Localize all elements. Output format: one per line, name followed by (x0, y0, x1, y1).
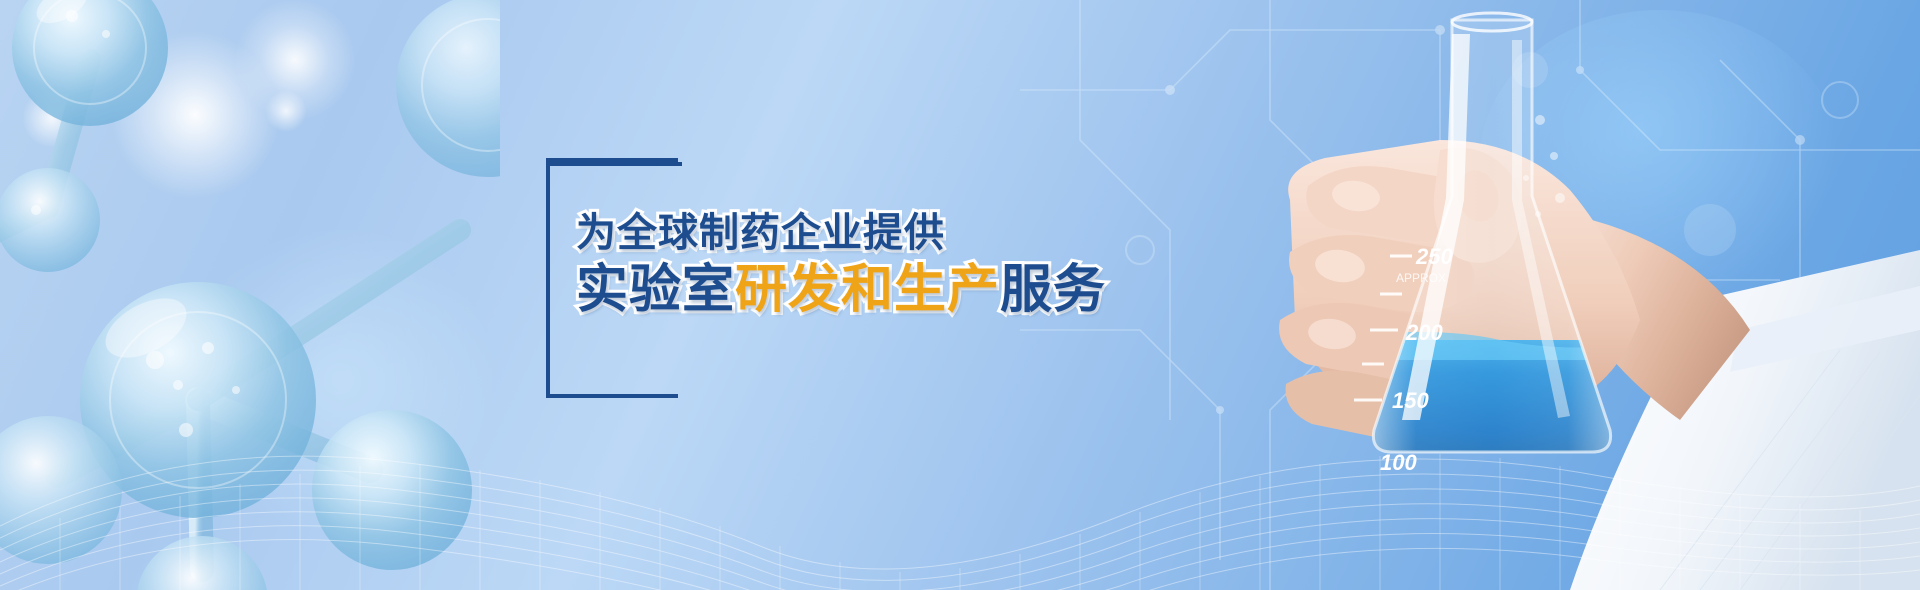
headline-segment-blue-prefix: 实验室 (576, 261, 735, 319)
headline-block: 为全球制药企业提供 实验室研发和生产服务 (546, 158, 976, 398)
bracket-top-bar (550, 162, 682, 166)
svg-text:250: 250 (1415, 244, 1453, 269)
svg-text:200: 200 (1405, 320, 1443, 345)
headline-segment-blue-suffix: 服务 (1000, 261, 1106, 319)
svg-text:APPROX: APPROX (1396, 271, 1446, 285)
headline-line-1: 为全球制药企业提供 (576, 210, 1106, 256)
wireframe-mesh (0, 366, 1920, 590)
headline-lines: 为全球制药企业提供 实验室研发和生产服务 (576, 210, 1106, 321)
headline-segment-orange: 研发和生产 (735, 261, 1000, 319)
hero-banner: 250 200 150 100 APPROX 100 (0, 0, 1920, 590)
headline-line-2: 实验室研发和生产服务 (576, 260, 1106, 320)
